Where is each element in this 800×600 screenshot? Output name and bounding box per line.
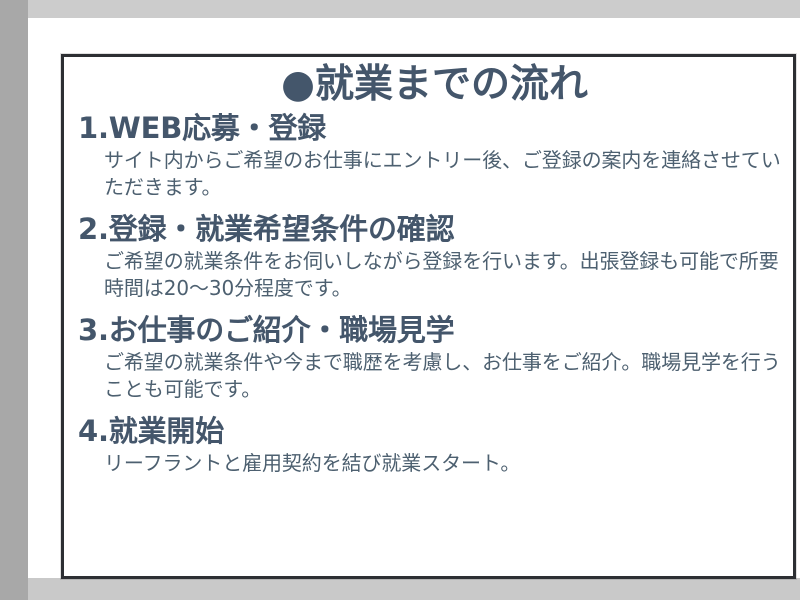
bottom-gray-margin — [0, 578, 800, 600]
document-content: ●就業までの流れ 1.WEB応募・登録 サイト内からご希望のお仕事にエントリー後… — [64, 57, 793, 576]
step-1-body: サイト内からご希望のお仕事にエントリー後、ご登録の案内を連絡させていただきます。 — [74, 147, 789, 201]
step-item-2: 2.登録・就業希望条件の確認 ご希望の就業条件をお伺いしながら登録を行います。出… — [74, 211, 789, 302]
step-item-3: 3.お仕事のご紹介・職場見学 ご希望の就業条件や今まで職歴を考慮し、お仕事をご紹… — [74, 312, 789, 403]
step-1-heading: 1.WEB応募・登録 — [74, 110, 789, 147]
top-gray-margin — [0, 0, 800, 18]
document-page: ●就業までの流れ 1.WEB応募・登録 サイト内からご希望のお仕事にエントリー後… — [28, 18, 800, 578]
step-item-1: 1.WEB応募・登録 サイト内からご希望のお仕事にエントリー後、ご登録の案内を連… — [74, 110, 789, 201]
step-item-4: 4.就業開始 リーフラントと雇用契約を結び就業スタート。 — [74, 413, 789, 477]
step-3-body: ご希望の就業条件や今まで職歴を考慮し、お仕事をご紹介。職場見学を行うことも可能で… — [74, 349, 789, 403]
page-title: ●就業までの流れ — [74, 63, 789, 107]
bottom-left-gray-corner — [0, 578, 28, 600]
step-2-body: ご希望の就業条件をお伺いしながら登録を行います。出張登録も可能で所要時間は20〜… — [74, 248, 789, 302]
step-3-heading: 3.お仕事のご紹介・職場見学 — [74, 312, 789, 349]
step-4-body: リーフラントと雇用契約を結び就業スタート。 — [74, 450, 789, 477]
step-2-heading: 2.登録・就業希望条件の確認 — [74, 211, 789, 248]
step-4-heading: 4.就業開始 — [74, 413, 789, 450]
left-gray-margin — [0, 0, 28, 600]
